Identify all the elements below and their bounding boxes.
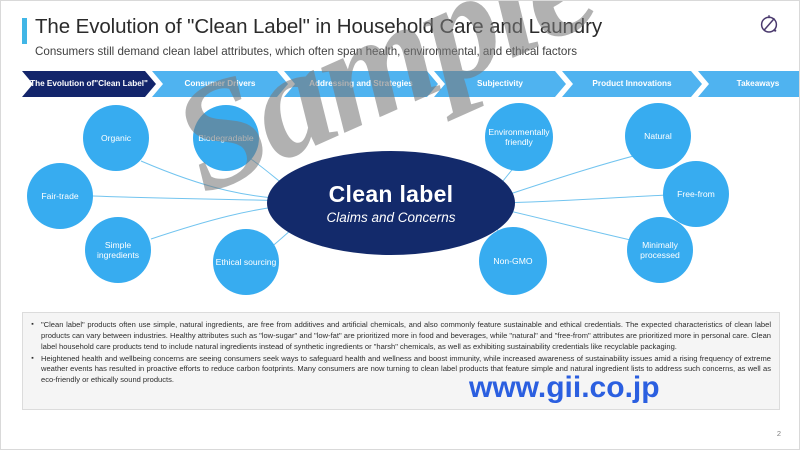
bullet-marker: ▪	[29, 320, 36, 353]
nav-item-takeaways[interactable]: Takeaways	[698, 71, 800, 97]
mindmap-node-natural[interactable]: Natural	[625, 103, 691, 169]
page-title: The Evolution of "Clean Label" in Househ…	[35, 15, 602, 39]
nav-item-evolution-line2: "Clean Label"	[94, 79, 148, 89]
mindmap-node-biodegradable[interactable]: Biodegradable	[193, 105, 259, 171]
mindmap-node-non-gmo[interactable]: Non-GMO	[479, 227, 547, 295]
nav-item-product-innovations[interactable]: Product Innovations	[562, 71, 702, 97]
mindmap-node-fair-trade[interactable]: Fair-trade	[27, 163, 93, 229]
clean-label-mindmap: Clean label Claims and Concerns Organic …	[1, 99, 800, 307]
title-accent-bar	[22, 18, 27, 44]
page-number: 2	[777, 429, 781, 438]
summary-bullet-1: ▪ "Clean label" products often use simpl…	[29, 320, 771, 353]
nav-item-consumer-drivers[interactable]: Consumer Drivers	[152, 71, 288, 97]
nav-item-subjectivity[interactable]: Subjectivity	[434, 71, 566, 97]
mindmap-node-simple-ingredients[interactable]: Simple ingredients	[85, 217, 151, 283]
slide-canvas: The Evolution of "Clean Label" in Househ…	[0, 0, 800, 450]
mindmap-node-free-from[interactable]: Free-from	[663, 161, 729, 227]
mindmap-node-environmentally-friendly[interactable]: Environmentally friendly	[485, 103, 553, 171]
nav-item-evolution-line1: The Evolution of	[30, 79, 94, 89]
mindmap-node-ethical-sourcing[interactable]: Ethical sourcing	[213, 229, 279, 295]
mindmap-core-node: Clean label Claims and Concerns	[267, 151, 515, 255]
mindmap-node-minimally-processed[interactable]: Minimally processed	[627, 217, 693, 283]
summary-bullet-1-text: "Clean label" products often use simple,…	[41, 320, 771, 353]
summary-textbox: ▪ "Clean label" products often use simpl…	[22, 312, 780, 410]
summary-bullet-2-text: Heightened health and wellbeing concerns…	[41, 354, 771, 387]
section-nav: The Evolution of "Clean Label" Consumer …	[22, 71, 781, 97]
nav-item-addressing-strategies[interactable]: Addressing and Strategies	[284, 71, 438, 97]
core-title: Clean label	[329, 181, 454, 208]
page-subtitle: Consumers still demand clean label attri…	[35, 45, 577, 58]
bullet-marker: ▪	[29, 354, 36, 387]
nav-item-evolution[interactable]: The Evolution of "Clean Label"	[22, 71, 156, 97]
summary-bullet-2: ▪ Heightened health and wellbeing concer…	[29, 354, 771, 387]
mindmap-node-organic[interactable]: Organic	[83, 105, 149, 171]
brand-circle-slash-icon	[756, 11, 782, 37]
core-subtitle: Claims and Concerns	[326, 210, 455, 225]
